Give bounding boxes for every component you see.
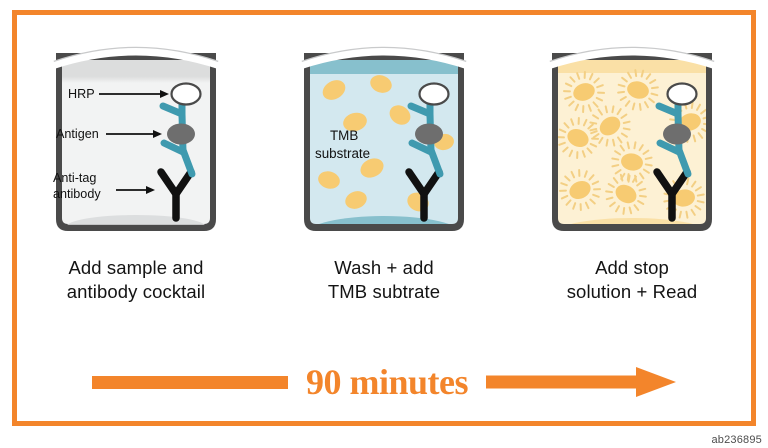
label-tmb-line2: substrate	[315, 146, 370, 161]
liquid-surface-band	[558, 60, 706, 73]
label-antigen: Antigen	[56, 127, 99, 141]
hrp-glyph	[420, 84, 449, 105]
panel-step-3: Add stop solution + Read	[525, 22, 740, 305]
timeline-bar-left	[92, 376, 288, 389]
watermark-code: ab236895	[711, 434, 762, 446]
label-anti-tag-antibody-line2: antibody	[53, 187, 101, 201]
timeline: 90 minutes	[12, 352, 756, 412]
label-anti-tag-antibody-line1: Anti-tag	[53, 171, 96, 185]
timeline-arrow-right	[486, 365, 676, 399]
label-hrp: HRP	[68, 87, 95, 101]
diagram-canvas: HRP Antigen Anti-tag antibody	[0, 0, 768, 448]
timeline-label: 90 minutes	[306, 364, 468, 400]
caption-step-3: Add stop solution + Read	[567, 256, 698, 305]
caption-step-1: Add sample and antibody cocktail	[67, 256, 205, 305]
hrp-glyph	[172, 84, 201, 105]
antigen-glyph	[415, 124, 443, 145]
well-1: HRP Antigen Anti-tag antibody	[36, 22, 236, 234]
liquid-surface-band	[310, 60, 458, 74]
hrp-glyph	[668, 84, 697, 105]
label-tmb-line1: TMB	[330, 128, 358, 143]
antigen-glyph	[167, 124, 195, 145]
well-3	[532, 22, 732, 234]
caption-step-2: Wash + add TMB subtrate	[328, 256, 440, 305]
panel-step-2: TMB substrate Wash + add TMB subtrate	[277, 22, 492, 305]
antigen-glyph	[663, 124, 691, 145]
panel-row: HRP Antigen Anti-tag antibody	[12, 22, 756, 322]
well-2: TMB substrate	[284, 22, 484, 234]
panel-step-1: HRP Antigen Anti-tag antibody	[29, 22, 244, 305]
